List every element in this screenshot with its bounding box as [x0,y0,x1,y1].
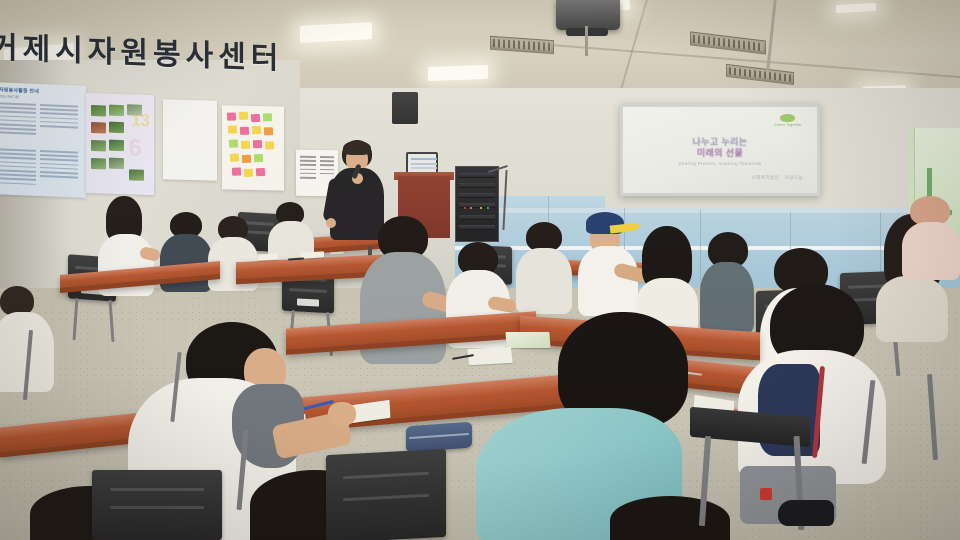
attendee-torso [902,222,960,280]
sticky-note [252,126,261,134]
student-cap [578,212,642,322]
poster-subtitle: 2015 프로그램 [0,93,19,99]
presenter-hand-left [326,218,336,228]
sticky-note [253,140,262,148]
student-torso [578,246,638,316]
attendee-hair [610,496,730,540]
poster-numeral-small: 6 [129,134,142,162]
slide-subtitle: Sharing Present, Inspiring Tomorrow [645,161,795,166]
attendee [896,196,960,286]
poster-thumbnail [91,158,106,170]
attendee [96,196,156,316]
av-equipment-rack [455,166,499,242]
wall-speaker [392,92,418,124]
attendee [0,286,70,416]
poster-thumbnail [129,169,144,181]
classroom-photo: 거제시자원봉사센터 자원봉사활동 안내 2015 프로그램 13 6 [0,0,960,540]
sticky-note [265,141,274,149]
sticky-note [251,114,260,122]
ceiling-light [428,65,488,81]
poster-thumbnail [127,104,142,116]
sticky-note [264,127,273,135]
attendee-torso [516,248,572,314]
chair [326,449,446,540]
poster-thumbnail [91,105,106,117]
poster-thumbnail [109,105,124,117]
worksheet [258,253,278,260]
poster-thumbnail [91,140,106,152]
sticky-note [232,168,241,176]
presenter-hair-front [343,141,371,155]
chair [92,470,222,540]
slide-title-line2: 미래의 선물 [697,148,743,158]
attendee [516,222,574,326]
rack-led [470,207,472,209]
slide-footer: 사회복지법인 · 사랑나눔 [751,175,803,181]
attendee [610,496,730,540]
wall-poster-blue: 자원봉사활동 안내 2015 프로그램 [0,82,86,198]
sticky-note [240,127,249,135]
sticky-note [239,112,248,120]
student-hand [328,402,356,426]
sticky-note [263,113,272,121]
shoe [778,500,834,526]
ceiling-projector [556,0,620,30]
slide-title: 나누고 누리는 미래의 선물 [645,137,795,159]
chair-label [297,298,319,306]
sticky-note [227,112,236,120]
podium-monitor [406,152,438,174]
wall-poster-sticky-notes [222,105,284,190]
sticky-note [229,139,238,147]
sticky-note [242,155,251,163]
sticky-note [244,169,253,177]
poster-thumbnail [91,122,106,134]
sticky-note [254,154,263,162]
wall-poster-white [163,99,217,181]
shorts-logo [760,488,772,500]
poster-thumbnail [109,140,124,152]
pencil-case [406,422,472,453]
poster-thumbnail [109,122,124,134]
sticky-note [241,141,250,149]
attendee [360,216,446,386]
projection-screen: Green Together 나누고 누리는 미래의 선물 Sharing Pr… [620,104,820,196]
rack-led [464,207,466,209]
rack-led [487,207,489,209]
sticky-note [256,168,265,176]
slide-logo-icon: Green Together [774,114,808,130]
sticky-note [228,125,237,133]
slide-logo-text: Green Together [774,123,808,128]
slide-surface: Green Together 나누고 누리는 미래의 선물 Sharing Pr… [623,107,817,193]
sticky-note [230,153,239,161]
slide-title-line1: 나누고 누리는 [693,137,748,147]
wainscot-top-rail [455,208,960,213]
wall-poster-photo-collage: 13 6 [86,93,154,195]
projector-mount [585,26,588,56]
poster-thumbnail [109,158,124,170]
rack-led [480,207,482,209]
